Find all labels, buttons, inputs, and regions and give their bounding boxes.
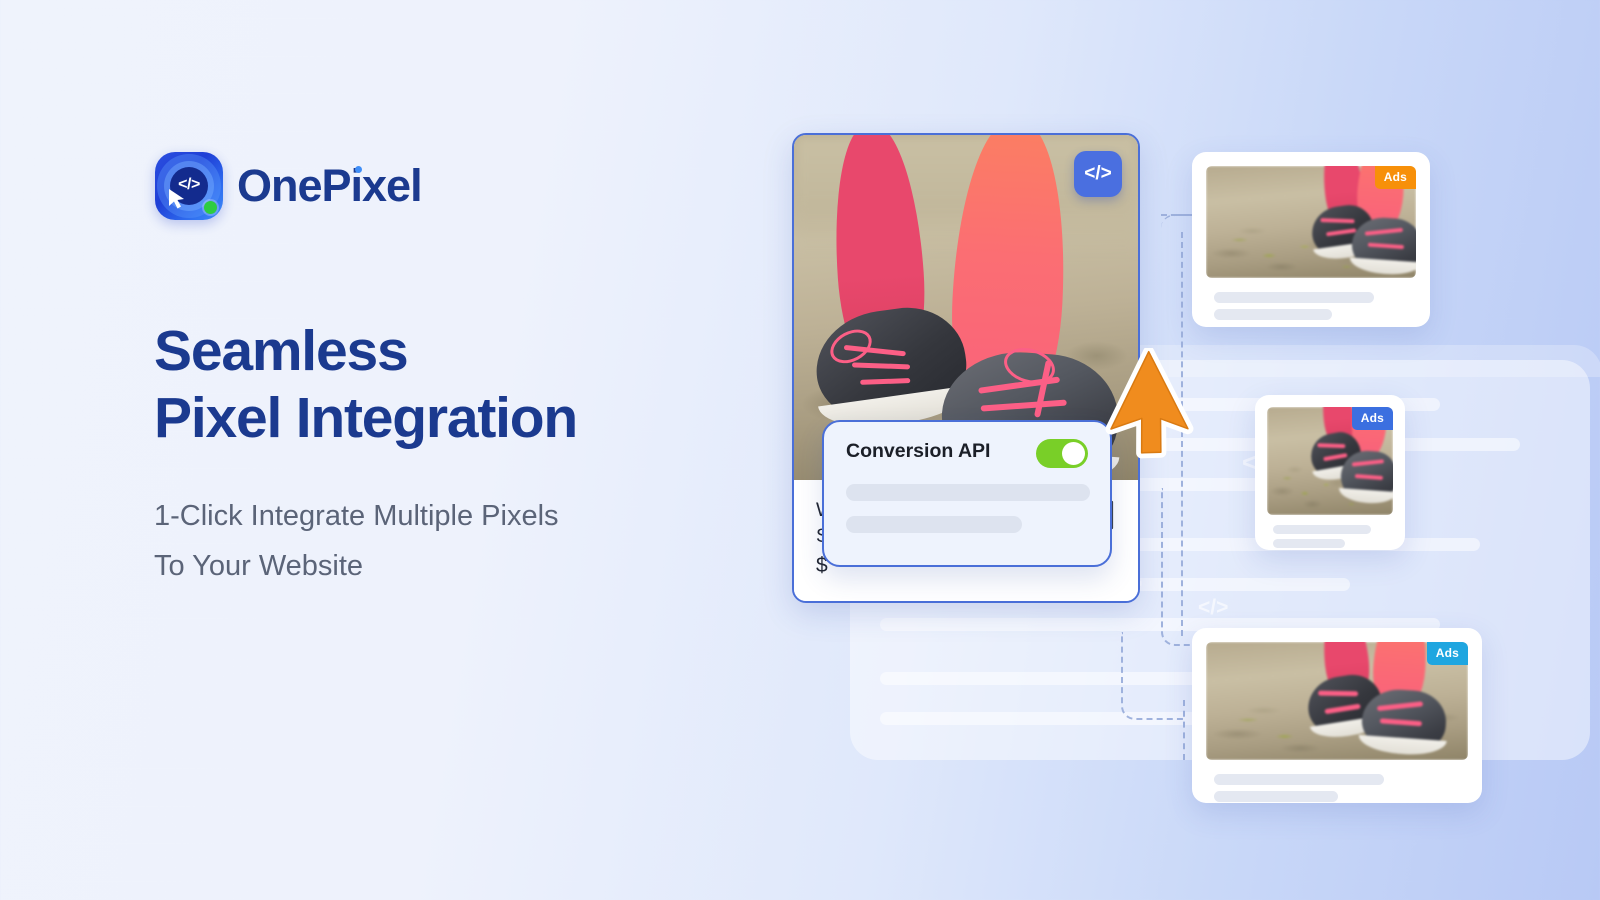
connector-line-tail bbox=[1183, 700, 1185, 760]
ad-card[interactable]: Ads bbox=[1255, 395, 1405, 550]
page-subtitle: 1-Click Integrate Multiple Pixels To You… bbox=[154, 492, 754, 592]
subhead-line-1: 1-Click Integrate Multiple Pixels bbox=[154, 492, 754, 542]
connector-corner-bottom bbox=[1121, 632, 1185, 720]
onepixel-logo-icon: </> bbox=[155, 152, 223, 220]
brand-lockup[interactable]: </> OnePixel bbox=[155, 152, 422, 220]
ad-skeleton-row bbox=[1214, 292, 1374, 303]
ad-skeleton-row bbox=[1273, 539, 1345, 548]
code-badge[interactable]: </> bbox=[1074, 151, 1122, 197]
ad-skeleton-row bbox=[1214, 774, 1384, 785]
page-title: Seamless Pixel Integration bbox=[154, 318, 794, 451]
headline-line-2: Pixel Integration bbox=[154, 385, 794, 452]
conversion-skeleton-row bbox=[846, 516, 1022, 533]
illustration-stage: </> </> </> bbox=[780, 0, 1600, 900]
ad-image: Ads bbox=[1206, 166, 1416, 278]
conversion-api-toggle[interactable] bbox=[1036, 439, 1088, 468]
mouse-cursor-icon[interactable] bbox=[1096, 348, 1206, 460]
headline-line-1: Seamless bbox=[154, 318, 794, 385]
logo-cursor-icon bbox=[168, 188, 188, 210]
brand-wordmark: OnePixel bbox=[237, 160, 422, 212]
ad-image: Ads bbox=[1267, 407, 1393, 515]
brand-wordmark-text: OnePixel bbox=[237, 160, 422, 211]
toggle-knob bbox=[1062, 442, 1085, 465]
wordmark-i-dot bbox=[355, 166, 362, 173]
ads-badge[interactable]: Ads bbox=[1427, 642, 1468, 665]
ads-badge[interactable]: Ads bbox=[1375, 166, 1416, 189]
ad-skeleton-row bbox=[1214, 309, 1332, 320]
ad-skeleton-row bbox=[1214, 791, 1338, 802]
ad-image: Ads bbox=[1206, 642, 1468, 760]
ad-card[interactable]: Ads bbox=[1192, 152, 1430, 327]
subhead-line-2: To Your Website bbox=[154, 542, 754, 592]
ad-card[interactable]: Ads bbox=[1192, 628, 1482, 803]
ads-badge[interactable]: Ads bbox=[1352, 407, 1393, 430]
conversion-skeleton-row bbox=[846, 484, 1090, 501]
logo-status-dot bbox=[204, 201, 217, 214]
ad-skeleton-row bbox=[1273, 525, 1371, 534]
conversion-api-card[interactable]: Conversion API bbox=[822, 420, 1112, 567]
